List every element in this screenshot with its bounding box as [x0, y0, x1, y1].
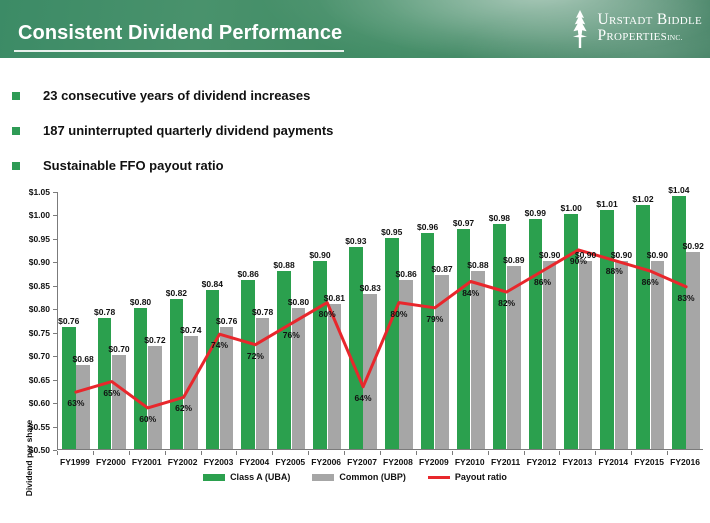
- x-tick-label: FY2008: [378, 457, 418, 467]
- payout-ratio-label: 88%: [599, 266, 629, 276]
- payout-ratio-label: 84%: [456, 288, 486, 298]
- bar-value-label-class-a: $1.01: [590, 199, 624, 209]
- bar-value-label-class-a: $0.93: [339, 236, 373, 246]
- x-tick-mark: [93, 451, 94, 455]
- bar-value-label-common: $0.72: [138, 335, 172, 345]
- legend-item: Class A (UBA): [203, 472, 290, 482]
- x-tick-label: FY2015: [629, 457, 669, 467]
- title-underline-divider: [14, 50, 344, 52]
- x-tick-mark: [129, 451, 130, 455]
- payout-ratio-polyline: [76, 250, 686, 408]
- bullet-list: 23 consecutive years of dividend increas…: [0, 78, 710, 183]
- x-tick-label: FY2006: [306, 457, 346, 467]
- legend-swatch: [428, 476, 450, 479]
- x-tick-mark: [308, 451, 309, 455]
- bar-value-label-common: $0.89: [497, 255, 531, 265]
- bullet-item-2: 187 uninterrupted quarterly dividend pay…: [0, 113, 710, 148]
- y-tick-label: $0.95: [16, 234, 50, 244]
- x-tick-label: FY2014: [593, 457, 633, 467]
- y-tick-label: $0.60: [16, 398, 50, 408]
- bar-value-label-common: $0.68: [66, 354, 100, 364]
- x-tick-label: FY2005: [270, 457, 310, 467]
- header-banner: Consistent Dividend Performance URSTADT …: [0, 0, 710, 58]
- logo-line-2: PROPERTIESINC.: [597, 28, 702, 44]
- bar-value-label-class-a: $0.76: [52, 316, 86, 326]
- y-tick-label: $1.00: [16, 210, 50, 220]
- payout-ratio-label: 80%: [384, 309, 414, 319]
- y-axis-title: Dividend per share: [24, 393, 34, 523]
- x-tick-mark: [57, 451, 58, 455]
- payout-ratio-label: 65%: [97, 388, 127, 398]
- plot-area: $0.76$0.68$0.78$0.70$0.80$0.72$0.82$0.74…: [57, 192, 703, 450]
- logo-wordmark: URSTADT BIDDLE PROPERTIESINC.: [597, 12, 702, 44]
- bullet-text: Sustainable FFO payout ratio: [43, 158, 224, 173]
- legend-item: Payout ratio: [428, 472, 507, 482]
- y-tick-label: $0.55: [16, 422, 50, 432]
- payout-ratio-label: 86%: [528, 277, 558, 287]
- x-tick-mark: [344, 451, 345, 455]
- bar-value-label-class-a: $0.96: [411, 222, 445, 232]
- bar-value-label-class-a: $0.97: [447, 218, 481, 228]
- bar-value-label-common: $0.83: [353, 283, 387, 293]
- bar-value-label-common: $0.78: [246, 307, 280, 317]
- bar-value-label-common: $0.87: [425, 264, 459, 274]
- payout-ratio-label: 76%: [276, 330, 306, 340]
- x-tick-mark: [416, 451, 417, 455]
- x-tick-mark: [524, 451, 525, 455]
- x-tick-mark: [488, 451, 489, 455]
- x-tick-label: FY2012: [522, 457, 562, 467]
- y-tick-label: $0.90: [16, 257, 50, 267]
- y-tick-label: $0.65: [16, 375, 50, 385]
- bullet-item-3: Sustainable FFO payout ratio: [0, 148, 710, 183]
- bar-value-label-class-a: $1.04: [662, 185, 696, 195]
- bar-value-label-class-a: $0.86: [231, 269, 265, 279]
- payout-ratio-label: 90%: [563, 256, 593, 266]
- legend-swatch: [203, 474, 225, 481]
- payout-ratio-label: 60%: [133, 414, 163, 424]
- bar-value-label-common: $0.81: [317, 293, 351, 303]
- pine-tree-icon: [569, 9, 591, 49]
- x-tick-mark: [595, 451, 596, 455]
- payout-ratio-label: 79%: [420, 314, 450, 324]
- x-tick-label: FY2011: [486, 457, 526, 467]
- bar-value-label-class-a: $0.98: [482, 213, 516, 223]
- x-tick-label: FY2009: [414, 457, 454, 467]
- bar-value-label-common: $0.76: [210, 316, 244, 326]
- x-tick-mark: [452, 451, 453, 455]
- x-tick-label: FY2013: [557, 457, 597, 467]
- company-logo: URSTADT BIDDLE PROPERTIESINC.: [569, 6, 702, 50]
- bar-value-label-class-a: $0.95: [375, 227, 409, 237]
- legend-swatch: [312, 474, 334, 481]
- bullet-square-icon: [12, 127, 20, 135]
- y-tick-label: $0.85: [16, 281, 50, 291]
- bar-value-label-common: $0.90: [604, 250, 638, 260]
- payout-ratio-label: 74%: [205, 340, 235, 350]
- bullet-square-icon: [12, 162, 20, 170]
- payout-ratio-label: 82%: [492, 298, 522, 308]
- bullet-text: 187 uninterrupted quarterly dividend pay…: [43, 123, 333, 138]
- y-tick-label: $0.80: [16, 304, 50, 314]
- legend-label: Payout ratio: [455, 472, 507, 482]
- payout-ratio-label: 80%: [312, 309, 342, 319]
- legend-label: Common (UBP): [339, 472, 406, 482]
- x-tick-label: FY2007: [342, 457, 382, 467]
- bar-value-label-class-a: $0.99: [518, 208, 552, 218]
- x-tick-label: FY2001: [127, 457, 167, 467]
- x-tick-mark: [165, 451, 166, 455]
- payout-ratio-label: 83%: [671, 293, 701, 303]
- bullet-square-icon: [12, 92, 20, 100]
- x-tick-mark: [631, 451, 632, 455]
- bullet-item-1: 23 consecutive years of dividend increas…: [0, 78, 710, 113]
- y-tick-label: $0.75: [16, 328, 50, 338]
- legend-item: Common (UBP): [312, 472, 406, 482]
- bar-value-label-class-a: $0.90: [303, 250, 337, 260]
- x-tick-mark: [380, 451, 381, 455]
- x-tick-label: FY2010: [450, 457, 490, 467]
- bar-value-label-class-a: $0.88: [267, 260, 301, 270]
- y-tick-label: $0.70: [16, 351, 50, 361]
- bar-value-label-class-a: $0.78: [88, 307, 122, 317]
- x-tick-label: FY2016: [665, 457, 705, 467]
- x-tick-label: FY2002: [163, 457, 203, 467]
- x-tick-mark: [559, 451, 560, 455]
- page-title: Consistent Dividend Performance: [18, 22, 342, 45]
- payout-ratio-label: 72%: [240, 351, 270, 361]
- legend-label: Class A (UBA): [230, 472, 290, 482]
- bar-value-label-class-a: $1.00: [554, 203, 588, 213]
- x-tick-mark: [236, 451, 237, 455]
- bar-value-label-common: $0.90: [640, 250, 674, 260]
- bar-value-label-common: $0.90: [533, 250, 567, 260]
- bar-value-label-class-a: $0.80: [124, 297, 158, 307]
- x-tick-label: FY2000: [91, 457, 131, 467]
- bar-value-label-common: $0.70: [102, 344, 136, 354]
- bar-value-label-common: $0.88: [461, 260, 495, 270]
- y-tick-label: $1.05: [16, 187, 50, 197]
- bar-value-label-common: $0.74: [174, 325, 208, 335]
- bar-value-label-common: $0.86: [389, 269, 423, 279]
- payout-ratio-label: 62%: [169, 403, 199, 413]
- x-tick-label: FY2003: [199, 457, 239, 467]
- x-tick-label: FY1999: [55, 457, 95, 467]
- payout-ratio-label: 64%: [348, 393, 378, 403]
- x-tick-label: FY2004: [234, 457, 274, 467]
- dividend-performance-chart: Dividend per share $1.05$1.00$0.95$0.90$…: [0, 185, 710, 497]
- bar-value-label-class-a: $0.84: [195, 279, 229, 289]
- bar-value-label-common: $0.80: [281, 297, 315, 307]
- payout-ratio-label: 86%: [635, 277, 665, 287]
- x-tick-mark: [667, 451, 668, 455]
- logo-line-1: URSTADT BIDDLE: [597, 12, 702, 28]
- y-tick-label: $0.50: [16, 445, 50, 455]
- bar-value-label-class-a: $0.82: [159, 288, 193, 298]
- x-tick-mark: [201, 451, 202, 455]
- bar-value-label-class-a: $1.02: [626, 194, 660, 204]
- x-tick-mark: [272, 451, 273, 455]
- bullet-text: 23 consecutive years of dividend increas…: [43, 88, 310, 103]
- chart-legend: Class A (UBA)Common (UBP)Payout ratio: [0, 472, 710, 482]
- payout-ratio-label: 63%: [61, 398, 91, 408]
- bar-value-label-common: $0.92: [676, 241, 710, 251]
